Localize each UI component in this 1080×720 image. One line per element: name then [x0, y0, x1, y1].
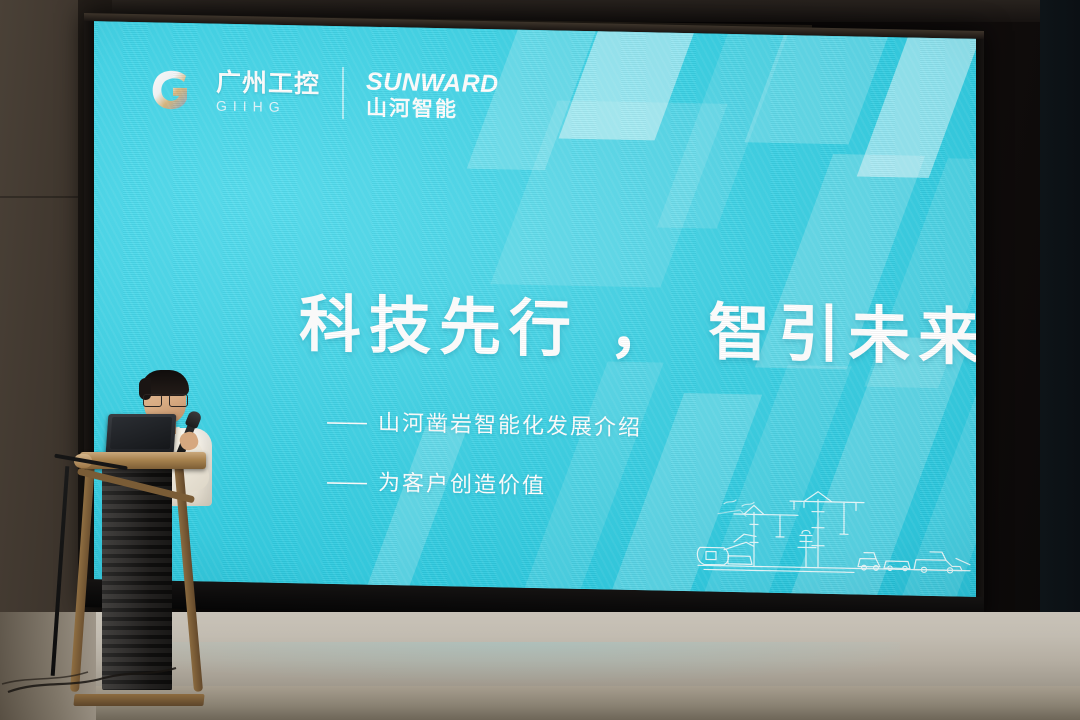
laptop[interactable]	[106, 414, 177, 454]
mic-stand-pole	[51, 466, 70, 676]
laptop-screen	[110, 417, 172, 449]
stage-foreground	[0, 0, 1080, 720]
glasses-icon	[143, 394, 188, 405]
lectern-base	[73, 694, 204, 706]
stage-photo-scene: 广州工控 GIIHG SUNWARD 山河智能 科技先行 ， 智引未来 ——山河…	[0, 0, 1080, 720]
floor-cables	[0, 654, 250, 694]
